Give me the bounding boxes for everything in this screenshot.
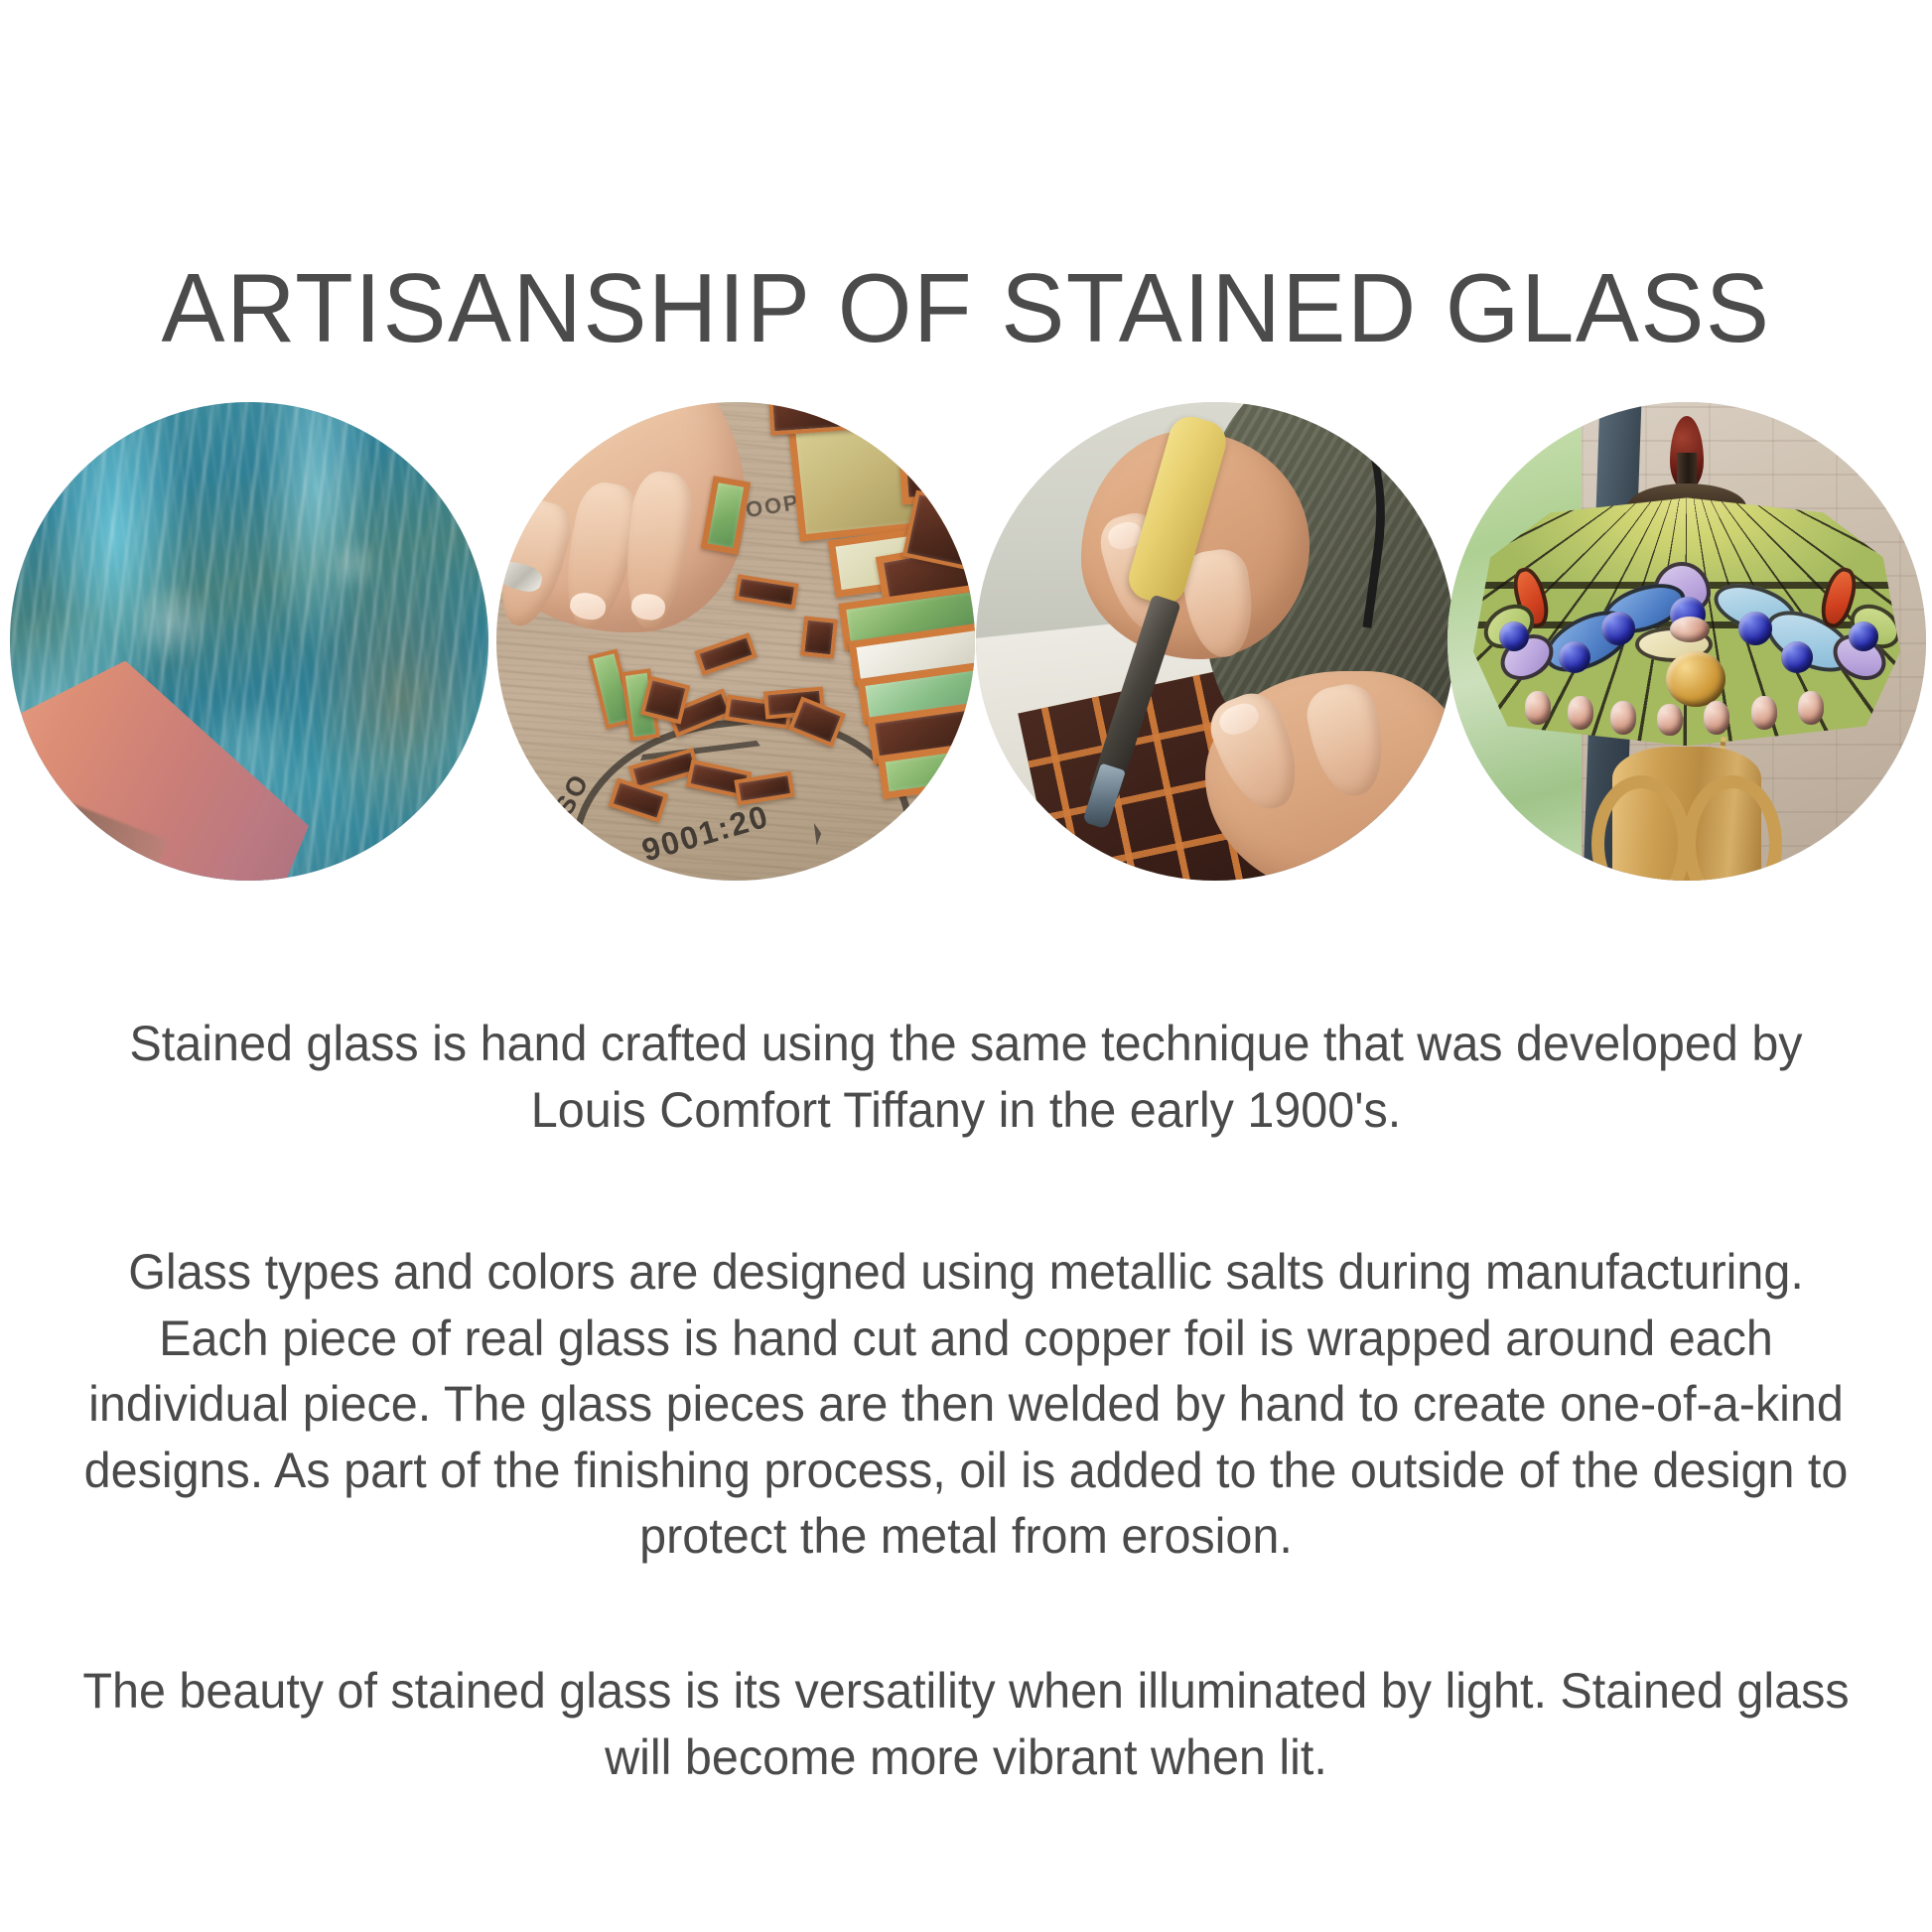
shade-center-jewel: [1666, 651, 1725, 707]
gallery-image-copper-foiled-glass-pieces: 9001:20 ISO OOP: [496, 402, 975, 881]
paragraph-process: Glass types and colors are designed usin…: [29, 1239, 1903, 1570]
shade-drop: [1798, 691, 1824, 725]
gallery-image-soldering-stained-glass: [976, 402, 1454, 881]
page-title: ARTISANSHIP OF STAINED GLASS: [19, 252, 1912, 364]
gallery-image-blue-marbled-glass-sheet: [10, 402, 488, 881]
infographic-page: ARTISANSHIP OF STAINED GLASS 9001:20 ISO…: [0, 0, 1932, 1932]
lamp-shade: [1473, 497, 1900, 746]
image-gallery: 9001:20 ISO OOP: [0, 402, 1932, 881]
shade-drop: [1751, 696, 1777, 730]
shade-jewel: [1781, 641, 1813, 673]
shade-drop: [1610, 701, 1636, 735]
fingernail: [1215, 699, 1263, 740]
shade-drop: [1568, 696, 1593, 730]
shade-drop: [1704, 701, 1729, 735]
glass-piece: [800, 616, 838, 658]
fingernail: [568, 591, 608, 622]
finger: [1302, 679, 1393, 802]
shade-drop: [1657, 704, 1683, 736]
glass-piece: [895, 402, 975, 505]
shade-jewel: [1499, 621, 1529, 651]
shade-drop: [1525, 691, 1551, 725]
hand-lower: [1205, 671, 1454, 881]
gallery-image-tiffany-style-lamp: [1448, 402, 1926, 881]
shade-jewel: [1738, 612, 1772, 645]
fingernail: [629, 592, 666, 621]
paragraph-beauty: The beauty of stained glass is its versa…: [29, 1658, 1903, 1790]
paragraph-technique: Stained glass is hand crafted using the …: [29, 1011, 1903, 1143]
finger: [1202, 685, 1312, 820]
